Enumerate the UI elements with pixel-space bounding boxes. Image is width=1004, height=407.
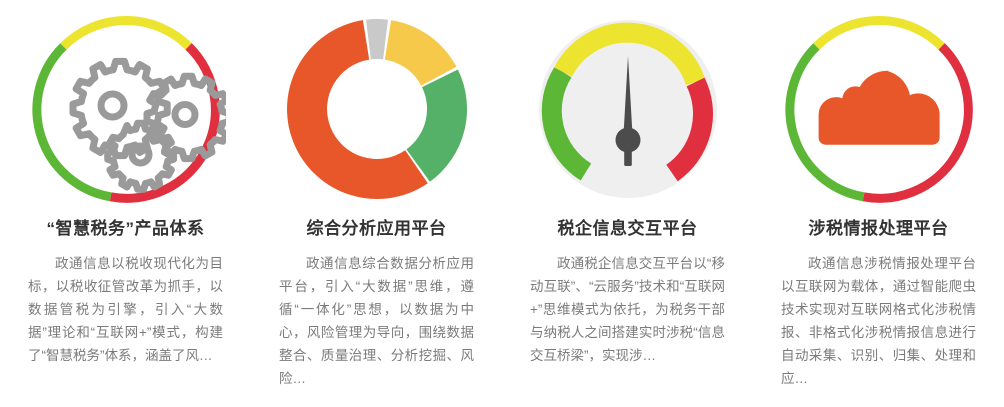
card-description: 政通信息涉税情报处理平台以互联网为载体，通过智能爬虫技术实现对互联网格式化涉税情… <box>781 252 976 390</box>
card-description: 政通信息以税收现代化为目标，以税收征管改革为抓手，以数据管税为引擎，引入“大数据… <box>28 252 223 367</box>
card-description: 政通税企信息交互平台以“移动互联”、“云服务”技术和“互联网+”思维模式为依托，… <box>530 252 725 367</box>
cloud-in-ring-icon <box>753 0 1004 218</box>
product-card-board: “智慧税务”产品体系 政通信息以税收现代化为目标，以税收征管改革为抓手，以数据管… <box>0 0 1004 407</box>
cloud-shape <box>818 70 939 145</box>
gauge-icon <box>502 0 753 218</box>
card-title: 涉税情报处理平台 <box>809 218 949 240</box>
donut-slice-green <box>406 70 467 182</box>
ring-arc-yellow <box>816 20 941 46</box>
gears-in-ring-icon <box>0 0 251 218</box>
product-card-comprehensive-analysis[interactable]: 综合分析应用平台 政通信息综合数据分析应用平台，引入“大数据”思维，遵循“一体化… <box>251 0 502 407</box>
card-description: 政通信息综合数据分析应用平台，引入“大数据”思维，遵循“一体化”思想，以数据为中… <box>279 252 474 390</box>
donut-chart-icon <box>251 0 502 218</box>
card-title: 综合分析应用平台 <box>307 218 447 240</box>
card-title: 税企信息交互平台 <box>558 218 698 240</box>
card-title: “智慧税务”产品体系 <box>47 218 205 240</box>
product-card-product-system[interactable]: “智慧税务”产品体系 政通信息以税收现代化为目标，以税收征管改革为抓手，以数据管… <box>0 0 251 407</box>
product-card-tax-enterprise-exchange[interactable]: 税企信息交互平台 政通税企信息交互平台以“移动互联”、“云服务”技术和“互联网+… <box>502 0 753 407</box>
product-card-tax-intelligence-processing[interactable]: 涉税情报处理平台 政通信息涉税情报处理平台以互联网为载体，通过智能爬虫技术实现对… <box>753 0 1004 407</box>
donut-slice-grey <box>366 19 388 59</box>
